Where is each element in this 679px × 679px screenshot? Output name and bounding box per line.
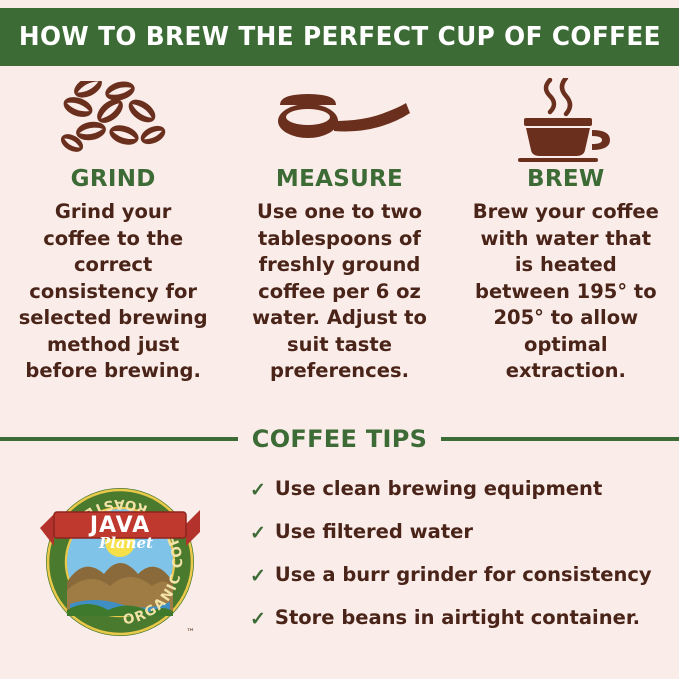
check-icon: ✓ — [250, 521, 266, 543]
coffee-tips-list: ✓ Use clean brewing equipment ✓ Use filt… — [250, 478, 670, 650]
coffee-cup-icon — [506, 78, 626, 162]
list-item: ✓ Use clean brewing equipment — [250, 478, 670, 500]
svg-text:Planet: Planet — [98, 534, 153, 552]
step-text-measure: Use one to two tablespoons of freshly gr… — [244, 199, 434, 385]
step-measure: MEASURE Use one to two tablespoons of fr… — [226, 78, 452, 385]
check-icon: ✓ — [250, 564, 266, 586]
step-title-grind: GRIND — [71, 166, 156, 192]
list-item: ✓ Use filtered water — [250, 521, 670, 543]
tip-text: Use filtered water — [275, 521, 473, 542]
coffee-tips-divider: COFFEE TIPS — [0, 424, 679, 454]
page-title: HOW TO BREW THE PERFECT CUP OF COFFEE — [18, 22, 660, 52]
measuring-spoon-icon — [264, 78, 414, 162]
divider-rule-right — [441, 437, 679, 441]
tip-text: Store beans in airtight container. — [275, 607, 640, 628]
check-icon: ✓ — [250, 607, 266, 629]
step-brew: BREW Brew your coffee with water that is… — [453, 78, 679, 385]
tip-text: Use a burr grinder for consistency — [275, 564, 652, 585]
infographic-page: HOW TO BREW THE PERFECT CUP OF COFFEE — [0, 0, 679, 679]
step-text-brew: Brew your coffee with water that is heat… — [471, 199, 661, 385]
divider-rule-left — [0, 437, 238, 441]
step-text-grind: Grind your coffee to the correct consist… — [18, 199, 208, 385]
coffee-beans-icon — [58, 78, 168, 162]
list-item: ✓ Use a burr grinder for consistency — [250, 564, 670, 586]
check-icon: ✓ — [250, 478, 266, 500]
step-title-brew: BREW — [527, 166, 605, 192]
trademark-symbol: ™ — [186, 628, 195, 638]
step-title-measure: MEASURE — [276, 166, 403, 192]
header-banner: HOW TO BREW THE PERFECT CUP OF COFFEE — [0, 8, 679, 66]
step-grind: GRIND Grind your coffee to the correct c… — [0, 78, 226, 385]
list-item: ✓ Store beans in airtight container. — [250, 607, 670, 629]
steps-row: GRIND Grind your coffee to the correct c… — [0, 78, 679, 385]
coffee-tips-title: COFFEE TIPS — [252, 425, 427, 453]
java-planet-logo: ORGANIC COFFEE ROASTERS JAVA Planet ™ — [34, 470, 214, 650]
tip-text: Use clean brewing equipment — [275, 478, 602, 499]
